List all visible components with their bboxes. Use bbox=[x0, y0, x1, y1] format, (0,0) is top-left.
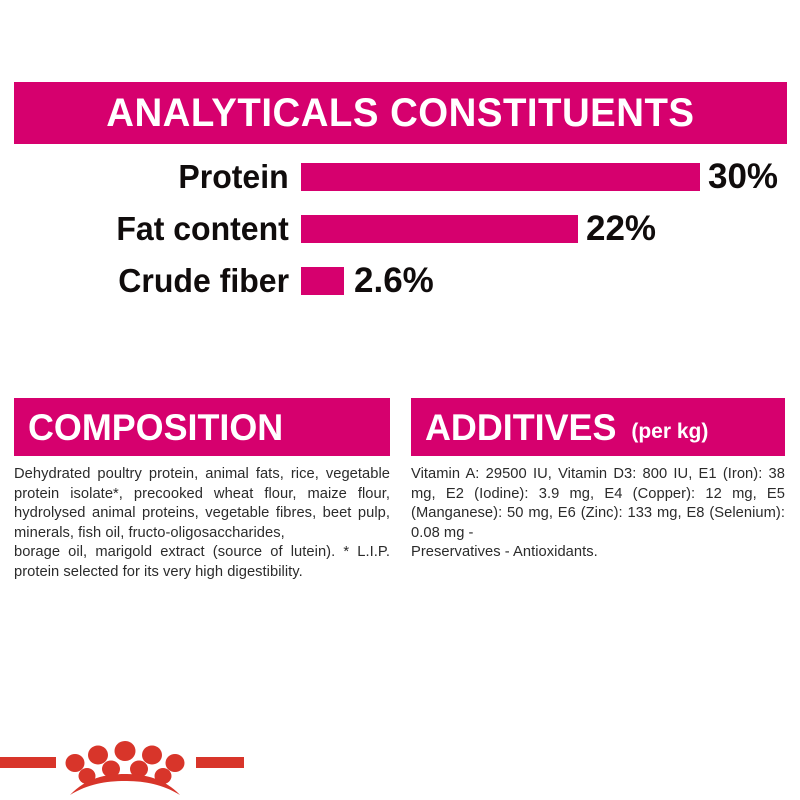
chart-row: Fat content 22% bbox=[0, 207, 800, 251]
bar-fat-content bbox=[301, 215, 578, 243]
additives-title: ADDITIVES bbox=[425, 409, 616, 446]
additives-text: Vitamin A: 29500 IU, Vitamin D3: 800 IU,… bbox=[411, 466, 785, 541]
chart-row: Crude fiber 2.6% bbox=[0, 259, 800, 303]
bar-category-label: Crude fiber bbox=[118, 259, 289, 303]
additives-subtitle: (per kg) bbox=[631, 421, 708, 442]
bar-value-label: 22% bbox=[586, 207, 656, 251]
analytical-constituents-banner: ANALYTICALS CONSTITUENTS bbox=[14, 82, 787, 144]
additives-text-last-line: Preservatives - Antioxidants. bbox=[411, 543, 785, 563]
banner-title: ANALYTICALS CONSTITUENTS bbox=[106, 93, 694, 133]
composition-text-last-line: borage oil, marigold extract (source of … bbox=[14, 543, 390, 582]
bar-category-label: Fat content bbox=[117, 207, 289, 251]
bar-crude-fiber bbox=[301, 267, 344, 295]
composition-title: COMPOSITION bbox=[28, 409, 283, 446]
logo-rule-right bbox=[196, 757, 244, 768]
additives-body: Vitamin A: 29500 IU, Vitamin D3: 800 IU,… bbox=[411, 456, 785, 563]
logo-rule-left bbox=[0, 757, 56, 768]
chart-row: Protein 30% bbox=[0, 155, 800, 199]
footer-logo bbox=[0, 735, 244, 797]
bar-protein bbox=[301, 163, 700, 191]
product-label-page: ANALYTICALS CONSTITUENTS Protein 30% Fat… bbox=[0, 0, 800, 800]
composition-panel: COMPOSITION Dehydrated poultry protein, … bbox=[14, 398, 390, 582]
composition-header: COMPOSITION bbox=[14, 398, 390, 456]
crown-icon bbox=[54, 735, 196, 797]
bar-category-label: Protein bbox=[179, 155, 289, 199]
additives-header: ADDITIVES (per kg) bbox=[411, 398, 785, 456]
additives-panel: ADDITIVES (per kg) Vitamin A: 29500 IU, … bbox=[411, 398, 785, 563]
info-panels: COMPOSITION Dehydrated poultry protein, … bbox=[0, 398, 800, 638]
composition-text: Dehydrated poultry protein, animal fats,… bbox=[14, 466, 390, 541]
bar-value-label: 2.6% bbox=[354, 259, 434, 303]
analytical-constituents-chart: Protein 30% Fat content 22% Crude fiber … bbox=[0, 155, 800, 310]
composition-body: Dehydrated poultry protein, animal fats,… bbox=[14, 456, 390, 582]
bar-value-label: 30% bbox=[708, 155, 778, 199]
